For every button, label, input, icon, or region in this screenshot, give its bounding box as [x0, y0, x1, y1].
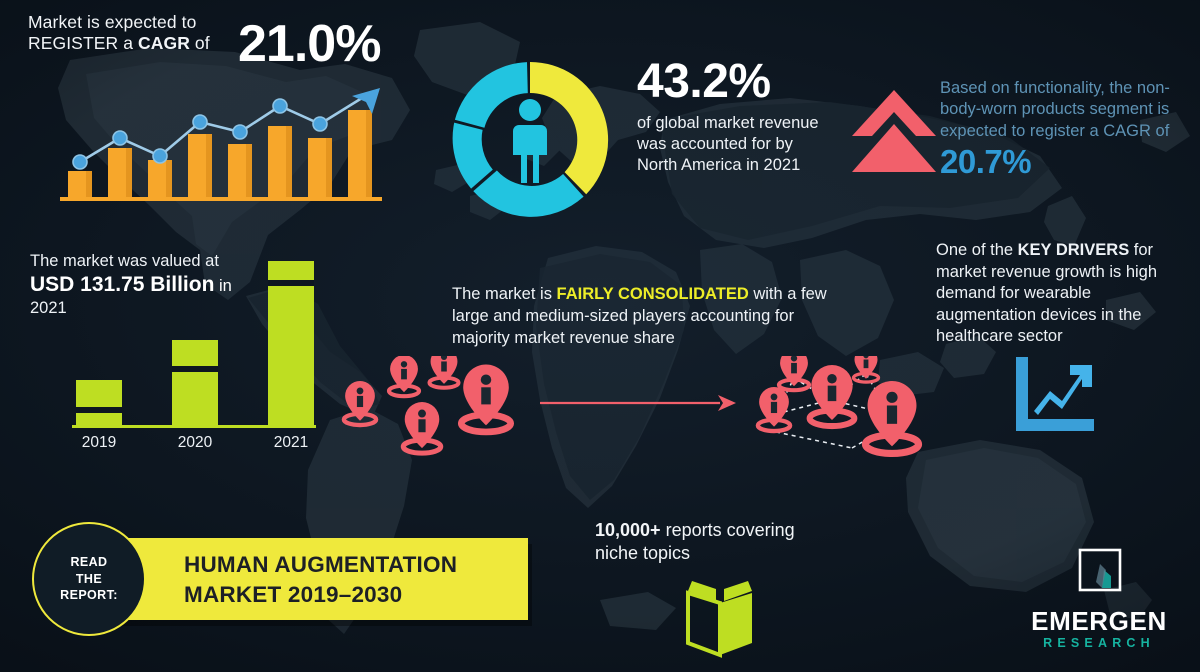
- consolidation-block: The market is FAIRLY CONSOLIDATED with a…: [452, 284, 832, 350]
- bar-label-2020: 2020: [178, 434, 213, 450]
- brand-logo[interactable]: EMERGEN RESEARCH: [1014, 548, 1184, 652]
- map-pin-icon: [461, 365, 510, 432]
- cagr-line2-pre: REGISTER a: [28, 33, 138, 53]
- map-pin-icon: [344, 381, 376, 425]
- map-pin-icon: [429, 356, 458, 388]
- bar-label-2021: 2021: [274, 434, 308, 450]
- read-report-badge[interactable]: READTHEREPORT:: [32, 522, 146, 636]
- map-pin-icon: [810, 365, 855, 426]
- cagr-line2-post: of: [190, 33, 210, 53]
- reports-count-block: 10,000+ reports covering niche topics: [595, 519, 835, 566]
- report-title: HUMAN AUGMENTATION MARKET 2019–2030: [184, 550, 524, 609]
- key-drivers-bold: KEY DRIVERS: [1018, 241, 1130, 259]
- open-book-icon: [682, 577, 758, 659]
- brand-subtitle: RESEARCH: [1014, 636, 1184, 650]
- brand-name: EMERGEN: [1014, 606, 1184, 637]
- map-pin-icon: [779, 356, 809, 390]
- brand-square-mark-icon: [1078, 548, 1122, 592]
- market-value-bar-chart: 2019 2020 2021: [62, 255, 322, 450]
- report-banner[interactable]: HUMAN AUGMENTATION MARKET 2019–2030: [104, 538, 528, 620]
- map-pin-icon: [389, 356, 419, 396]
- consolidation-pre: The market is: [452, 285, 557, 303]
- map-pin-cluster-left: [334, 356, 554, 466]
- consolidation-bold: FAIRLY CONSOLIDATED: [557, 285, 749, 303]
- map-pin-icon: [854, 356, 879, 382]
- infographic-canvas: Market is expected to REGISTER a CAGR of…: [0, 0, 1200, 672]
- reports-count-value: 10,000+: [595, 520, 661, 540]
- person-icon: [513, 99, 547, 183]
- key-drivers-pre: One of the: [936, 241, 1018, 259]
- functionality-cagr-value: 20.7%: [940, 143, 1192, 181]
- key-drivers-text: One of the KEY DRIVERS for market revenu…: [936, 240, 1194, 348]
- map-pin-icon: [403, 402, 440, 453]
- cagr-line2-bold: CAGR: [138, 33, 190, 53]
- trend-bar-chart-icon: [50, 76, 395, 211]
- map-pin-network-right: [742, 356, 942, 472]
- double-chevron-up-icon: [848, 84, 940, 176]
- arrow-right-icon: [538, 392, 738, 414]
- cagr-headline-block: Market is expected to REGISTER a CAGR of…: [28, 12, 388, 53]
- map-pin-icon: [758, 387, 790, 431]
- map-pin-icon: [865, 381, 918, 453]
- bar-label-2019: 2019: [82, 434, 116, 450]
- functionality-block: Based on functionality, the non-body-wor…: [940, 78, 1192, 181]
- consolidation-text: The market is FAIRLY CONSOLIDATED with a…: [452, 284, 832, 350]
- north-america-share-value: 43.2%: [637, 58, 837, 106]
- read-report-label: READTHEREPORT:: [60, 554, 118, 605]
- reports-count-text: 10,000+ reports covering niche topics: [595, 519, 835, 566]
- line-growth-chart-icon: [1012, 355, 1098, 433]
- donut-chart-icon: [440, 50, 620, 230]
- functionality-text: Based on functionality, the non-body-wor…: [940, 78, 1192, 142]
- cagr-value: 21.0%: [238, 18, 380, 70]
- north-america-share-text: of global market revenue was accounted f…: [637, 113, 837, 176]
- north-america-share-block: 43.2% of global market revenue was accou…: [637, 58, 837, 176]
- key-drivers-block: One of the KEY DRIVERS for market revenu…: [936, 240, 1194, 348]
